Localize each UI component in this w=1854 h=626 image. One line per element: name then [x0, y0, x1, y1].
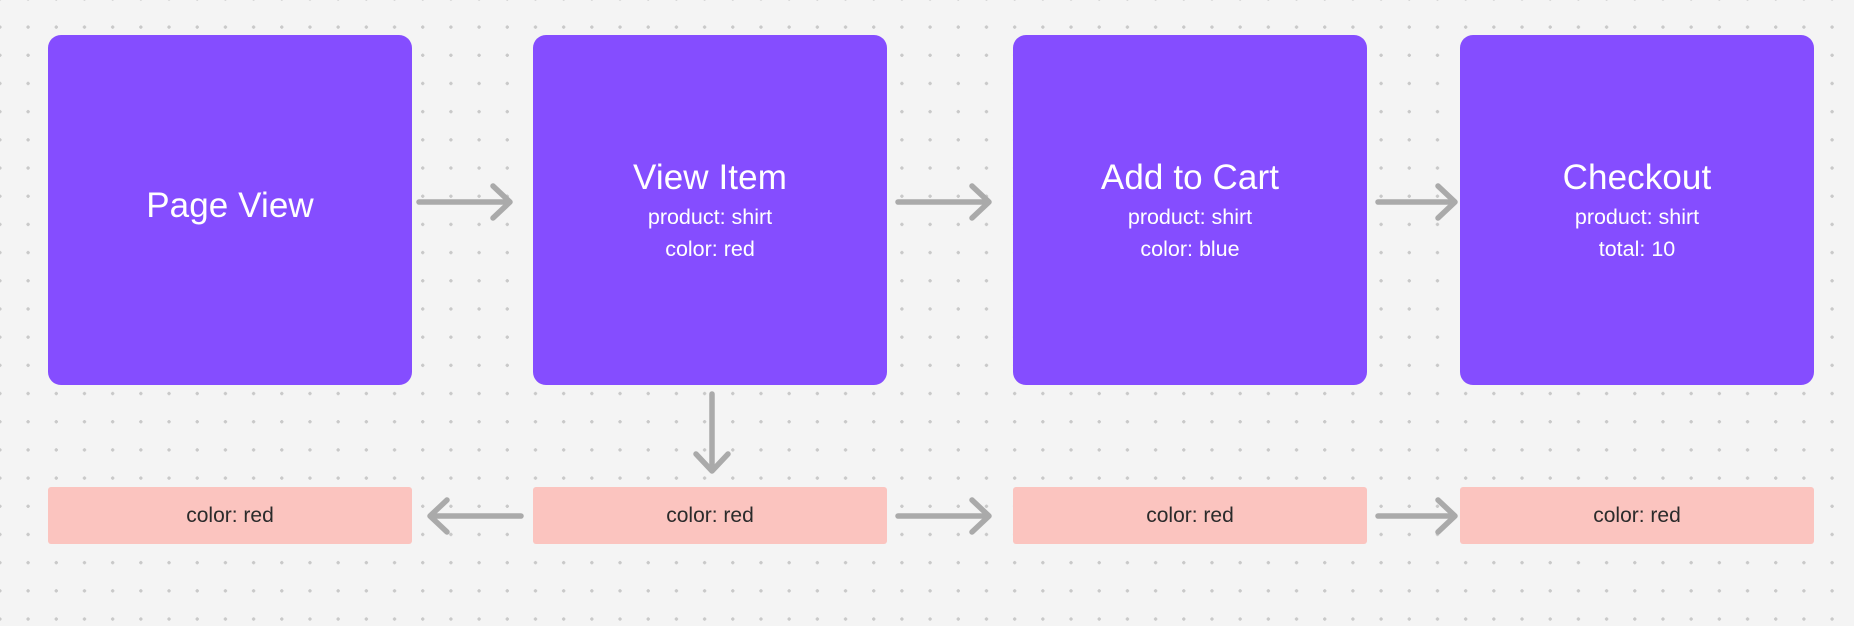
- event-node-title: Add to Cart: [1101, 158, 1279, 198]
- event-property: product: shirt: [648, 205, 772, 230]
- event-node-view-item[interactable]: View Item product: shirt color: red: [533, 35, 887, 385]
- event-property: product: shirt: [1575, 205, 1699, 230]
- property-node-page-view[interactable]: color: red: [48, 487, 412, 544]
- arrow-down-icon: [690, 392, 734, 484]
- property-node-label: color: red: [1146, 504, 1234, 528]
- arrow-right-icon: [417, 182, 525, 222]
- event-node-title: View Item: [633, 158, 787, 198]
- event-node-properties: product: shirt color: blue: [1128, 205, 1252, 262]
- event-property: color: blue: [1140, 237, 1239, 262]
- arrow-right-icon: [896, 496, 1004, 536]
- property-node-label: color: red: [666, 504, 754, 528]
- event-node-properties: product: shirt color: red: [648, 205, 772, 262]
- event-node-checkout[interactable]: Checkout product: shirt total: 10: [1460, 35, 1814, 385]
- property-node-add-to-cart[interactable]: color: red: [1013, 487, 1367, 544]
- event-node-title: Page View: [146, 186, 314, 226]
- property-node-label: color: red: [186, 504, 274, 528]
- event-node-properties: product: shirt total: 10: [1575, 205, 1699, 262]
- event-property: color: red: [665, 237, 755, 262]
- event-node-title: Checkout: [1563, 158, 1712, 198]
- event-node-page-view[interactable]: Page View: [48, 35, 412, 385]
- arrow-right-icon: [896, 182, 1004, 222]
- arrow-left-icon: [415, 496, 523, 536]
- event-node-add-to-cart[interactable]: Add to Cart product: shirt color: blue: [1013, 35, 1367, 385]
- property-node-view-item[interactable]: color: red: [533, 487, 887, 544]
- diagram-canvas[interactable]: Page View View Item product: shirt color…: [0, 0, 1854, 626]
- event-property: product: shirt: [1128, 205, 1252, 230]
- property-node-checkout[interactable]: color: red: [1460, 487, 1814, 544]
- property-node-label: color: red: [1593, 504, 1681, 528]
- event-property: total: 10: [1599, 237, 1676, 262]
